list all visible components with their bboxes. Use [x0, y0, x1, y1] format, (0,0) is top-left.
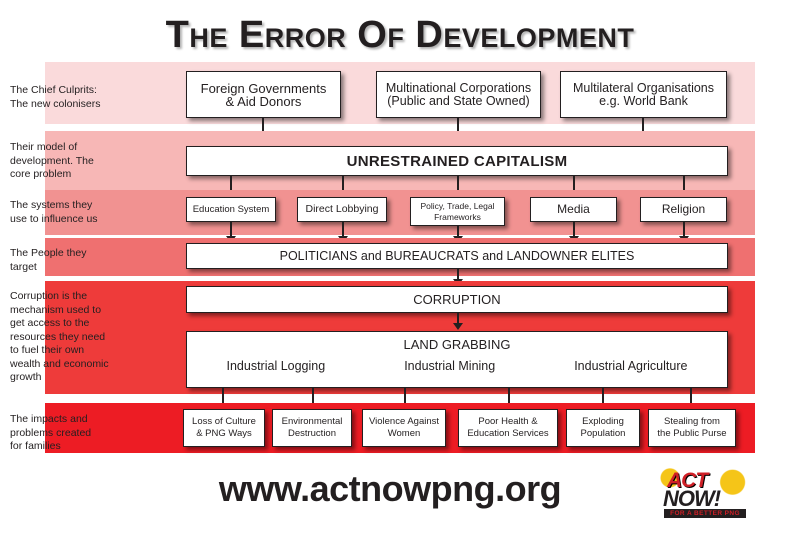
- band-label-line: The People they: [10, 247, 138, 261]
- node-violence-against-women[interactable]: Violence Against Women: [362, 409, 446, 447]
- node-line: (Public and State Owned): [386, 95, 531, 108]
- band-label-line: Their model of: [10, 141, 138, 155]
- node-foreign-governments[interactable]: Foreign Governments & Aid Donors: [186, 71, 341, 118]
- node-line: Destruction: [282, 428, 343, 440]
- band-label-systems-of-influence: The systems they use to influence us: [10, 199, 138, 226]
- node-text: Media: [553, 203, 594, 216]
- band-label-line: The Chief Culprits:: [10, 84, 138, 98]
- node-text: Direct Lobbying: [302, 203, 383, 216]
- node-text: LAND GRABBING: [187, 332, 727, 351]
- node-religion[interactable]: Religion: [640, 197, 727, 222]
- land-grabbing-child-mining[interactable]: Industrial Mining: [404, 360, 495, 373]
- node-line: Environmental: [282, 416, 343, 428]
- land-grabbing-children: Industrial Logging Industrial Mining Ind…: [187, 351, 727, 373]
- band-label-line: Corruption is the: [10, 290, 138, 304]
- node-text: UNRESTRAINED CAPITALISM: [343, 155, 572, 168]
- band-label-line: growth: [10, 371, 138, 385]
- website-url[interactable]: www.actnowpng.org: [150, 468, 630, 510]
- node-media[interactable]: Media: [530, 197, 617, 222]
- node-text: Poor Health & Education Services: [463, 416, 552, 440]
- band-label-line: get access to the: [10, 317, 138, 331]
- node-line: CORRUPTION: [413, 293, 500, 306]
- node-text: Environmental Destruction: [278, 416, 347, 440]
- node-line: & Aid Donors: [201, 95, 327, 108]
- node-text: Exploding Population: [577, 416, 630, 440]
- node-line: Media: [557, 203, 590, 216]
- node-multilateral-organisations[interactable]: Multilateral Organisations e.g. World Ba…: [560, 71, 727, 118]
- node-line: Religion: [662, 203, 705, 216]
- band-label-line: problems created: [10, 427, 138, 441]
- node-line: Policy, Trade, Legal: [420, 201, 494, 212]
- node-line: Direct Lobbying: [306, 203, 379, 216]
- node-multinational-corporations[interactable]: Multinational Corporations (Public and S…: [376, 71, 541, 118]
- actnow-logo[interactable]: ACT NOW! FOR A BETTER PNG: [657, 464, 753, 522]
- page-title: The Error Of Development: [0, 14, 800, 57]
- node-text: Education System: [189, 203, 274, 216]
- band-label-line: mechanism used to: [10, 304, 138, 318]
- node-exploding-population[interactable]: Exploding Population: [566, 409, 640, 447]
- land-grabbing-child-agriculture[interactable]: Industrial Agriculture: [574, 360, 687, 373]
- band-label-model-of-development: Their model of development. The core pro…: [10, 141, 138, 182]
- band-label-people-targeted: The People they target: [10, 247, 138, 274]
- node-education-system[interactable]: Education System: [186, 197, 276, 222]
- band-label-line: to fuel their own: [10, 344, 138, 358]
- node-text: Multilateral Organisations e.g. World Ba…: [569, 82, 718, 108]
- node-unrestrained-capitalism[interactable]: UNRESTRAINED CAPITALISM: [186, 146, 728, 176]
- node-line: Poor Health &: [467, 416, 548, 428]
- band-label-line: development. The: [10, 155, 138, 169]
- node-land-grabbing[interactable]: LAND GRABBING Industrial Logging Industr…: [186, 331, 728, 388]
- node-corruption[interactable]: CORRUPTION: [186, 286, 728, 313]
- band-label-line: use to influence us: [10, 213, 138, 227]
- node-text: Religion: [658, 203, 709, 216]
- band-label-line: The impacts and: [10, 413, 138, 427]
- band-label-chief-culprits: The Chief Culprits: The new colonisers: [10, 84, 138, 111]
- node-text: Policy, Trade, Legal Frameworks: [416, 201, 498, 223]
- node-text: Loss of Culture & PNG Ways: [188, 416, 260, 440]
- logo-tagline: FOR A BETTER PNG: [664, 509, 746, 518]
- node-text: Foreign Governments & Aid Donors: [197, 82, 331, 108]
- node-line: e.g. World Bank: [573, 95, 714, 108]
- band-label-line: target: [10, 261, 138, 275]
- node-stealing-from-the-public-purse[interactable]: Stealing from the Public Purse: [648, 409, 736, 447]
- node-policy-trade-legal-frameworks[interactable]: Policy, Trade, Legal Frameworks: [410, 197, 505, 226]
- node-line: Frameworks: [420, 212, 494, 223]
- node-loss-of-culture[interactable]: Loss of Culture & PNG Ways: [183, 409, 265, 447]
- node-line: & PNG Ways: [192, 428, 256, 440]
- node-environmental-destruction[interactable]: Environmental Destruction: [272, 409, 352, 447]
- band-label-line: resources they need: [10, 331, 138, 345]
- node-line: Foreign Governments: [201, 82, 327, 95]
- node-line: LAND GRABBING: [404, 337, 511, 352]
- node-text: POLITICIANS and BUREAUCRATS and LANDOWNE…: [276, 250, 639, 263]
- infographic-poster: The Error Of Development The Chief Culpr…: [0, 0, 800, 533]
- land-grabbing-child-logging[interactable]: Industrial Logging: [227, 360, 326, 373]
- node-line: Stealing from: [657, 416, 726, 428]
- node-text: Violence Against Women: [365, 416, 443, 440]
- node-line: Violence Against: [369, 416, 439, 428]
- node-text: Stealing from the Public Purse: [653, 416, 730, 440]
- band-label-line: for families: [10, 440, 138, 454]
- node-line: Multinational Corporations: [386, 82, 531, 95]
- node-direct-lobbying[interactable]: Direct Lobbying: [297, 197, 387, 222]
- node-politicians-bureaucrats-landowner-elites[interactable]: POLITICIANS and BUREAUCRATS and LANDOWNE…: [186, 243, 728, 269]
- node-line: Exploding: [581, 416, 626, 428]
- node-line: POLITICIANS and BUREAUCRATS and LANDOWNE…: [280, 250, 635, 263]
- node-line: Multilateral Organisations: [573, 82, 714, 95]
- node-line: Loss of Culture: [192, 416, 256, 428]
- node-text: Multinational Corporations (Public and S…: [382, 82, 535, 108]
- node-line: UNRESTRAINED CAPITALISM: [347, 155, 568, 168]
- node-line: the Public Purse: [657, 428, 726, 440]
- node-poor-health-education-services[interactable]: Poor Health & Education Services: [458, 409, 558, 447]
- band-label-line: core problem: [10, 168, 138, 182]
- node-text: CORRUPTION: [409, 293, 504, 306]
- band-label-line: The systems they: [10, 199, 138, 213]
- node-line: Population: [581, 428, 626, 440]
- band-label-impacts: The impacts and problems created for fam…: [10, 413, 138, 454]
- arrow-head-icon: [453, 323, 463, 330]
- band-label-line: The new colonisers: [10, 98, 138, 112]
- band-label-corruption: Corruption is the mechanism used to get …: [10, 290, 138, 385]
- node-line: Women: [369, 428, 439, 440]
- band-label-line: wealth and economic: [10, 358, 138, 372]
- node-line: Education System: [193, 203, 270, 216]
- node-line: Education Services: [467, 428, 548, 440]
